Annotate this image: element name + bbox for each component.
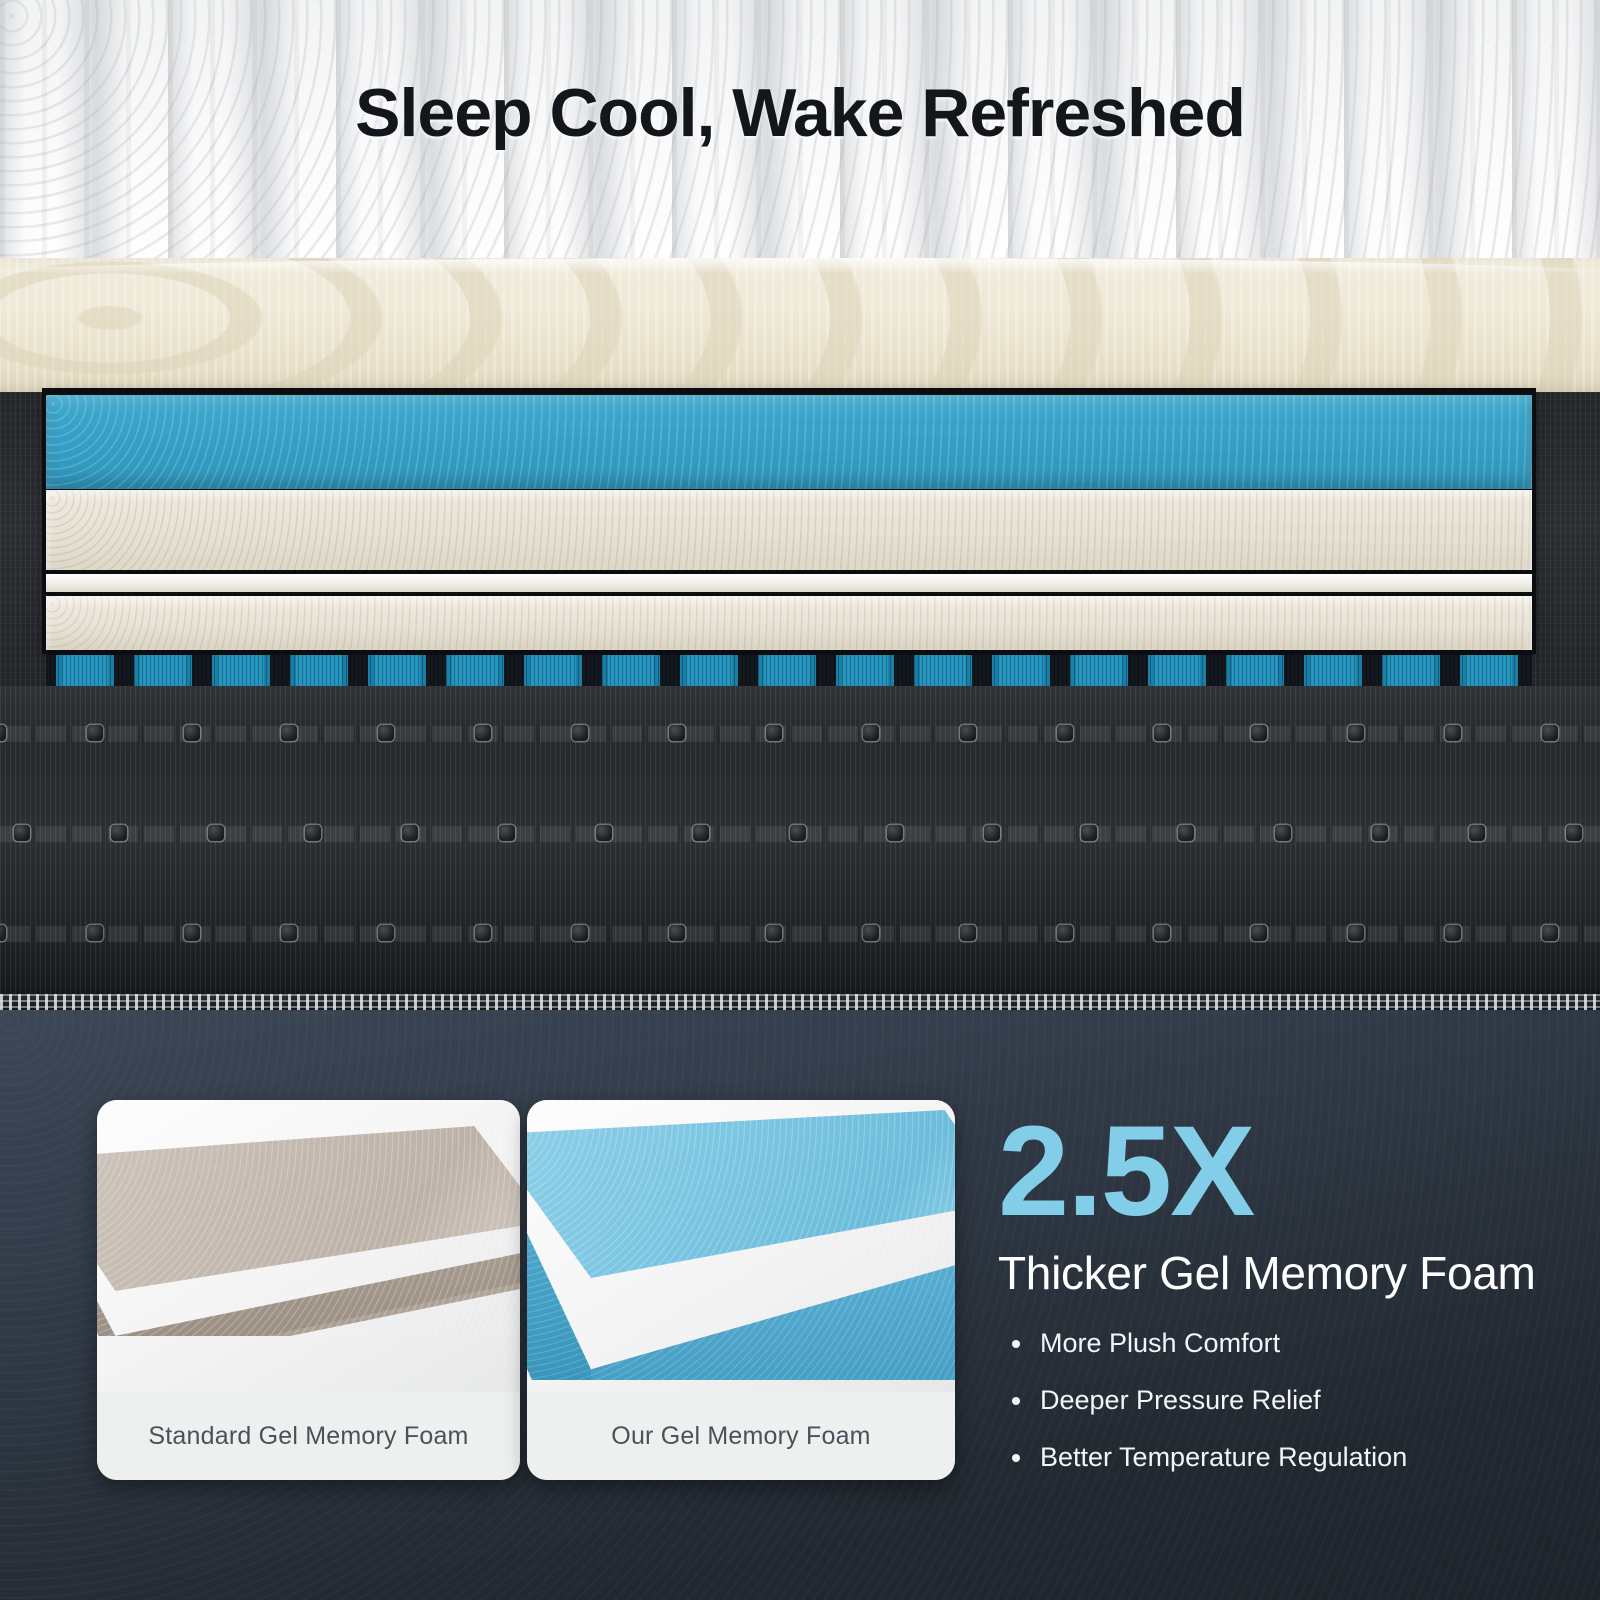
mattress-scene: Sleep Cool, Wake Refreshed: [0, 0, 1600, 1010]
tuft-button: [87, 925, 103, 941]
tuft-button: [1372, 825, 1388, 841]
cutaway-foam-stack: [46, 392, 1532, 650]
tuft-button: [1081, 825, 1097, 841]
foam-photo-ours: [527, 1100, 955, 1392]
support-foam-lower-layer: [46, 596, 1532, 650]
tuft-button: [0, 925, 6, 941]
tuft-button: [281, 725, 297, 741]
tuft-button: [184, 725, 200, 741]
tuft-button: [693, 825, 709, 841]
tuft-button: [1445, 925, 1461, 941]
tuft-button: [1251, 925, 1267, 941]
tuft-button: [1275, 825, 1291, 841]
foam-card-caption: Standard Gel Memory Foam: [97, 1392, 520, 1480]
tuft-button: [1445, 725, 1461, 741]
gel-memory-foam-layer: [46, 392, 1532, 493]
stat-subtitle: Thicker Gel Memory Foam: [998, 1246, 1588, 1300]
benefit-item: Deeper Pressure Relief: [998, 1385, 1588, 1416]
tuft-button: [1178, 825, 1194, 841]
tuft-button: [0, 725, 6, 741]
tuft-button: [984, 825, 1000, 841]
tuft-button: [475, 925, 491, 941]
tuft-button: [378, 725, 394, 741]
tuft-button: [111, 825, 127, 841]
benefit-list: More Plush ComfortDeeper Pressure Relief…: [998, 1328, 1588, 1473]
tuft-button: [1348, 925, 1364, 941]
tuft-button: [184, 925, 200, 941]
foam-card-caption: Our Gel Memory Foam: [527, 1392, 955, 1480]
stat-block: 2.5X Thicker Gel Memory Foam More Plush …: [998, 1108, 1588, 1499]
tuft-button: [766, 925, 782, 941]
pocket-coil-row: [46, 652, 1532, 689]
border-trim: [0, 994, 1600, 1010]
benefit-item: Better Temperature Regulation: [998, 1442, 1588, 1473]
tuft-button: [766, 725, 782, 741]
tuft-button: [378, 925, 394, 941]
tuft-button: [1469, 825, 1485, 841]
tuft-button: [281, 925, 297, 941]
tuft-button: [208, 825, 224, 841]
tuft-button: [499, 825, 515, 841]
product-infographic: Sleep Cool, Wake Refreshed S: [0, 0, 1600, 1600]
tuft-button: [1348, 725, 1364, 741]
tuft-button: [1542, 725, 1558, 741]
tuft-row: [0, 925, 1600, 943]
tuft-button: [863, 925, 879, 941]
tuft-button: [960, 925, 976, 941]
woven-side-panel: [0, 686, 1600, 994]
transition-strip-layer: [46, 574, 1532, 596]
tuft-button: [1251, 725, 1267, 741]
foam-card-standard: Standard Gel Memory Foam: [97, 1100, 520, 1480]
tuft-row: [0, 725, 1600, 743]
tuft-button: [572, 925, 588, 941]
tuft-button: [596, 825, 612, 841]
tuft-button: [669, 725, 685, 741]
tuft-button: [887, 825, 903, 841]
tuft-button: [863, 725, 879, 741]
foam-slab-ours: [527, 1110, 955, 1380]
tuft-button: [87, 725, 103, 741]
tuft-button: [1542, 925, 1558, 941]
tuft-button: [402, 825, 418, 841]
tuft-button: [572, 725, 588, 741]
tuft-row: [0, 825, 1600, 843]
foam-card-ours: Our Gel Memory Foam: [527, 1100, 955, 1480]
tuft-button: [305, 825, 321, 841]
foam-slab-standard: [97, 1126, 520, 1336]
stat-multiplier: 2.5X: [998, 1108, 1588, 1236]
foam-photo-standard: [97, 1100, 520, 1392]
tuft-button: [790, 825, 806, 841]
tuft-button: [1154, 925, 1170, 941]
page-title: Sleep Cool, Wake Refreshed: [0, 74, 1600, 152]
comfort-foam-upper-layer: [46, 490, 1532, 574]
benefit-item: More Plush Comfort: [998, 1328, 1588, 1359]
tuft-button: [1154, 725, 1170, 741]
tuft-button: [669, 925, 685, 941]
tuft-button: [960, 725, 976, 741]
quilted-pillow-top-layer: [0, 258, 1600, 404]
tuft-button: [14, 825, 30, 841]
tuft-button: [1057, 725, 1073, 741]
tuft-button: [475, 725, 491, 741]
tuft-button: [1057, 925, 1073, 941]
tuft-button: [1566, 825, 1582, 841]
